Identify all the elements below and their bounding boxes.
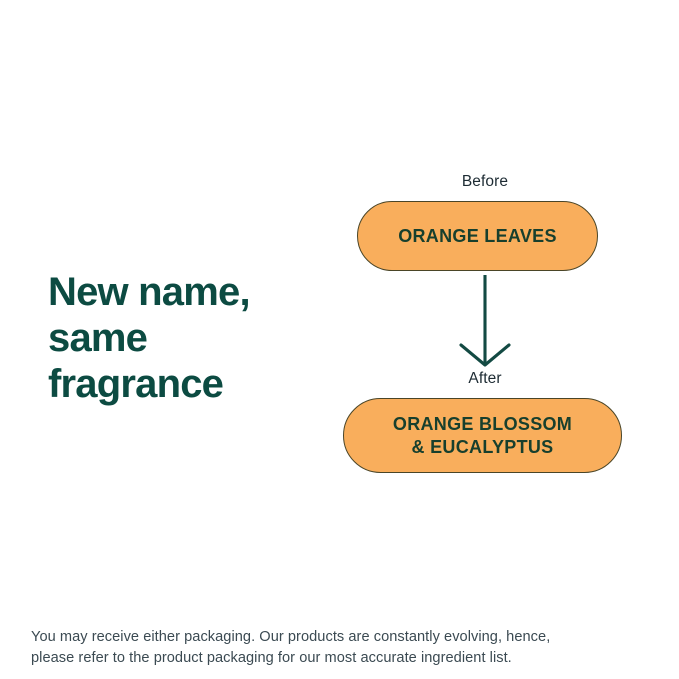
promo-graphic: New name, same fragrance Before ORANGE L…: [0, 0, 679, 679]
after-label: After: [330, 369, 640, 389]
before-product-name: ORANGE LEAVES: [398, 226, 557, 247]
rename-flow-diagram: Before ORANGE LEAVES After ORANGE BLOSSO…: [330, 172, 640, 473]
disclaimer-text: You may receive either packaging. Our pr…: [31, 627, 631, 669]
after-product-name: ORANGE BLOSSOM & EUCALYPTUS: [393, 413, 572, 459]
arrow-down-icon: [454, 275, 516, 369]
before-product-pill: ORANGE LEAVES: [357, 201, 598, 271]
arrow-container: [330, 271, 640, 369]
after-product-pill: ORANGE BLOSSOM & EUCALYPTUS: [343, 398, 622, 473]
before-label: Before: [330, 172, 640, 192]
page-title: New name, same fragrance: [48, 269, 348, 407]
